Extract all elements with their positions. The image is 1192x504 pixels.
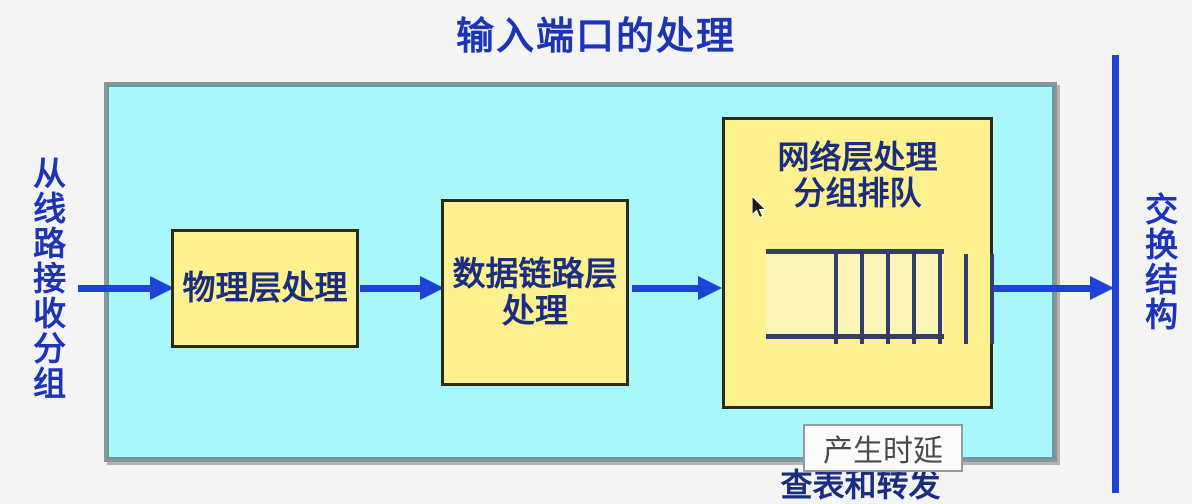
arrow-to-switching-fabric [994, 281, 1116, 295]
diagram-canvas: 输入端口的处理 从线路接收分组 交换结构 物理层处理 数据链路层 处理 网络层处… [0, 0, 1192, 504]
box-datalink-layer-label-line1: 数据链路层 [453, 256, 618, 293]
queue-divider-7 [990, 254, 994, 344]
box-network-layer-label-line2: 分组排队 [793, 176, 921, 212]
arrow-datalink-to-network [632, 281, 724, 295]
arrow-shaft [360, 285, 422, 292]
label-incoming-line: 从线路接收分组 [28, 156, 66, 401]
queue-divider-1 [834, 254, 838, 344]
arrow-head [698, 276, 722, 300]
mouse-pointer-icon [752, 196, 768, 220]
queue-divider-6 [964, 254, 968, 344]
box-physical-layer-label: 物理层处理 [183, 270, 348, 307]
switching-fabric-bar [1112, 55, 1119, 493]
arrow-shaft [78, 285, 152, 292]
callout-delay-label: 产生时延 [823, 426, 943, 470]
callout-delay: 产生时延 [803, 424, 963, 472]
arrow-shaft [632, 285, 700, 292]
queue-divider-2 [860, 254, 864, 344]
box-network-layer-label-line1: 网络层处理 [777, 140, 937, 176]
box-network-layer-label-bottom: 查表和转发 [725, 468, 996, 504]
box-datalink-layer-label-line2: 处理 [502, 293, 568, 330]
label-switching-fabric: 交换结构 [1140, 192, 1178, 332]
page-title: 输入端口的处理 [0, 16, 1192, 58]
queue-divider-3 [886, 254, 890, 344]
arrow-physical-to-datalink [360, 281, 446, 295]
queue-divider-4 [912, 254, 916, 344]
box-datalink-layer: 数据链路层 处理 [441, 199, 629, 386]
arrow-into-physical [78, 281, 174, 295]
packet-queue-graphic [766, 249, 944, 339]
queue-divider-5 [938, 254, 942, 344]
box-physical-layer: 物理层处理 [171, 229, 359, 348]
arrow-head [1090, 276, 1114, 300]
arrow-shaft [994, 285, 1092, 292]
